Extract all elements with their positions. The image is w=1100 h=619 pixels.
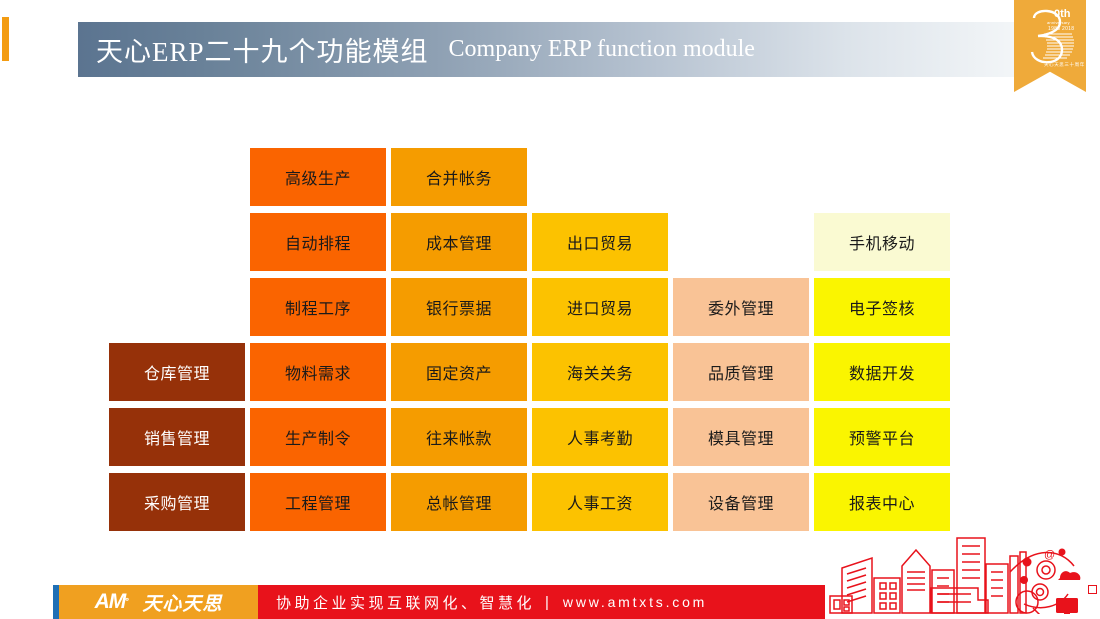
badge-cn-label: 天心天思三十周年 xyxy=(1044,62,1085,68)
company-logo: AM。 天心天思 xyxy=(59,585,258,619)
slide-footer: AM。 天心天思 协助企业实现互联网化、智慧化 | www.amtxts.com xyxy=(0,585,1100,619)
module-cell[interactable]: 仓库管理 xyxy=(109,343,245,401)
logo-am-letters: AM xyxy=(95,590,126,613)
logo-superscript: 。 xyxy=(125,592,133,602)
module-cell[interactable]: 人事工资 xyxy=(532,473,668,531)
badge-th-label: 0th xyxy=(1054,8,1071,20)
badge-years-label: 1988 2018 xyxy=(1048,26,1074,32)
module-cell[interactable]: 采购管理 xyxy=(109,473,245,531)
module-cell[interactable]: 物料需求 xyxy=(250,343,386,401)
module-cell[interactable]: 生产制令 xyxy=(250,408,386,466)
module-cell[interactable]: 成本管理 xyxy=(391,213,527,271)
module-cell[interactable]: 人事考勤 xyxy=(532,408,668,466)
module-cell[interactable]: 模具管理 xyxy=(673,408,809,466)
footer-separator: | xyxy=(545,594,549,611)
module-cell[interactable]: 合并帐务 xyxy=(391,148,527,206)
module-cell[interactable]: 电子签核 xyxy=(814,278,950,336)
module-cell[interactable]: 往来帐款 xyxy=(391,408,527,466)
module-cell[interactable]: 海关关务 xyxy=(532,343,668,401)
footer-url[interactable]: www.amtxts.com xyxy=(563,594,707,610)
slide-canvas: 天心ERP二十九个功能模组 Company ERP function modul… xyxy=(0,0,1100,619)
module-cell[interactable]: 出口贸易 xyxy=(532,213,668,271)
module-cell[interactable]: 工程管理 xyxy=(250,473,386,531)
module-cell[interactable]: 高级生产 xyxy=(250,148,386,206)
module-cell[interactable]: 委外管理 xyxy=(673,278,809,336)
module-cell[interactable]: 设备管理 xyxy=(673,473,809,531)
header-inner: 天心ERP二十九个功能模组 Company ERP function modul… xyxy=(78,22,1016,77)
badge-anniversary-label: anniversary xyxy=(1047,20,1070,25)
module-cell[interactable]: 预警平台 xyxy=(814,408,950,466)
module-cell[interactable]: 销售管理 xyxy=(109,408,245,466)
anniversary-badge-icon: 0th anniversary 1988 2018 天心天思三十周年 xyxy=(1014,0,1086,92)
footer-slogan: 协助企业实现互联网化、智慧化 xyxy=(276,592,535,613)
page-title: 天心ERP二十九个功能模组 xyxy=(96,30,429,69)
module-cell[interactable]: 银行票据 xyxy=(391,278,527,336)
module-cell[interactable]: 数据开发 xyxy=(814,343,950,401)
module-cell[interactable]: 总帐管理 xyxy=(391,473,527,531)
page-subtitle: Company ERP function module xyxy=(449,36,755,63)
logo-am-text: AM。 xyxy=(95,590,134,614)
accent-bar xyxy=(2,17,9,61)
footer-corner-marker xyxy=(1088,585,1097,594)
module-cell[interactable]: 制程工序 xyxy=(250,278,386,336)
module-cell[interactable]: 自动排程 xyxy=(250,213,386,271)
module-cell[interactable]: 手机移动 xyxy=(814,213,950,271)
module-cell[interactable]: 进口贸易 xyxy=(532,278,668,336)
module-cell[interactable]: 品质管理 xyxy=(673,343,809,401)
module-cell[interactable]: 固定资产 xyxy=(391,343,527,401)
footer-red-band: 协助企业实现互联网化、智慧化 | www.amtxts.com xyxy=(258,585,825,619)
badge-artwork-icon xyxy=(1014,0,1086,92)
slide-header: 天心ERP二十九个功能模组 Company ERP function modul… xyxy=(78,22,1016,77)
svg-text:@: @ xyxy=(1044,549,1055,561)
logo-cn-text: 天心天思 xyxy=(142,589,222,616)
